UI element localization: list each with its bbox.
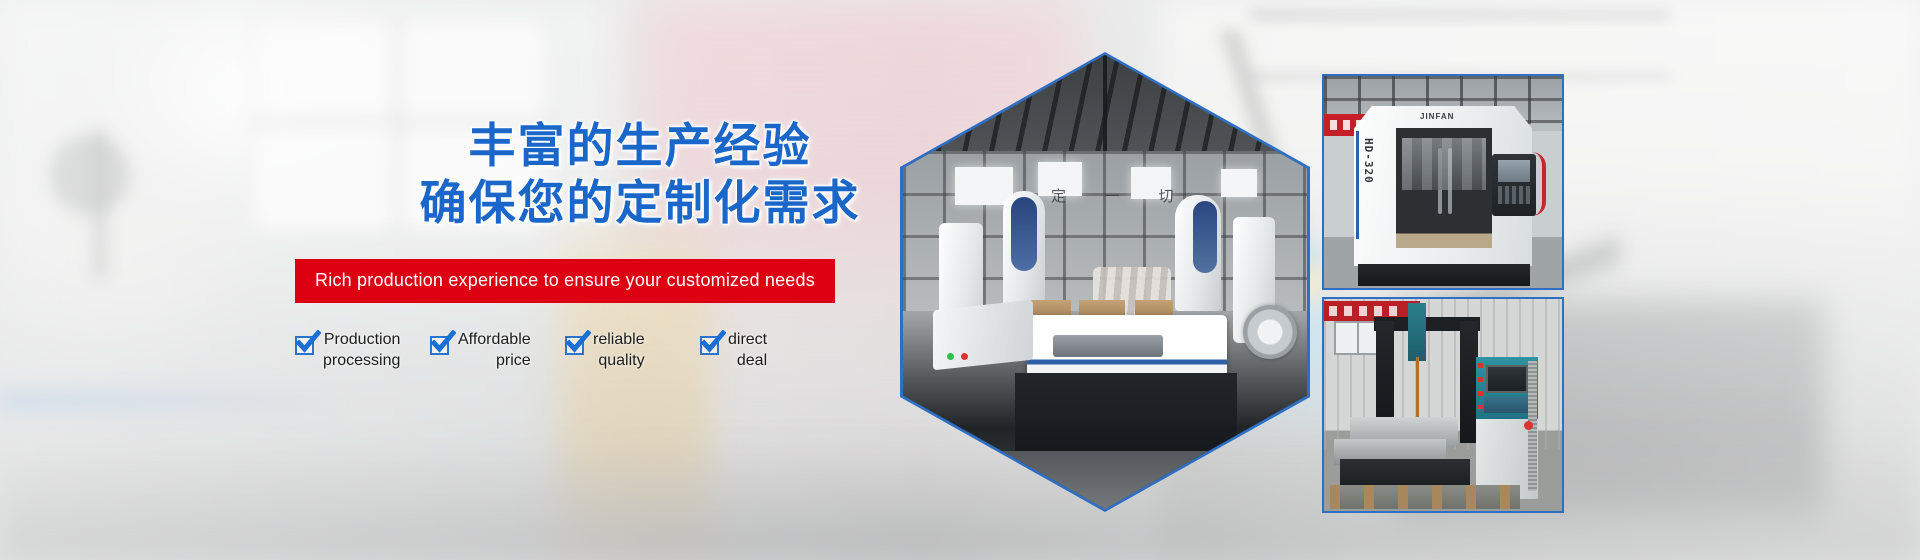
machine-panel-right: [1193, 201, 1217, 273]
checkbox-checked-icon: [430, 336, 449, 355]
feature-label: Production processing: [323, 329, 400, 371]
feature-item-production-processing[interactable]: Production processing: [295, 329, 430, 371]
gantry-column-left: [1376, 321, 1394, 431]
subtitle-ribbon-text: Rich production experience to ensure you…: [315, 270, 815, 291]
headline-line-2: 确保您的定制化需求: [360, 175, 920, 232]
factory-window: [955, 167, 1013, 205]
headline-line-1: 丰富的生产经验: [360, 118, 920, 175]
emergency-stop-icon: [1524, 421, 1533, 430]
banner-copy-block: 丰富的生产经验 确保您的定制化需求 Rich production experi…: [360, 118, 920, 371]
machine-control-screen: [1498, 160, 1530, 182]
machine-plinth: [1358, 264, 1530, 286]
feature-list: Production processing Affordable price r…: [295, 329, 835, 371]
feature-label: direct deal: [728, 329, 767, 371]
machine-base: [1015, 373, 1237, 459]
feature-item-reliable-quality[interactable]: reliable quality: [565, 329, 700, 371]
factory-interior-scene: 定 一 切: [903, 55, 1307, 509]
checkbox-checked-icon: [700, 336, 719, 355]
thumb-scene: [1324, 299, 1562, 511]
machine-model-label: HD-320: [1362, 138, 1375, 184]
hexagon-photo-frame: 定 一 切: [900, 52, 1310, 512]
machine-control-keypad: [1498, 186, 1530, 204]
checkbox-checked-icon: [565, 336, 584, 355]
feature-item-direct-deal[interactable]: direct deal: [700, 329, 835, 371]
subtitle-ribbon: Rich production experience to ensure you…: [295, 259, 835, 303]
machine-red-accent: [1532, 152, 1546, 216]
control-cabinet-buttons: [1478, 363, 1483, 409]
feature-item-affordable-price[interactable]: Affordable price: [430, 329, 565, 371]
factory-floor: [903, 451, 1307, 509]
machine-conveyor: [933, 300, 1033, 371]
machine-panel-mid: [1011, 197, 1037, 271]
machine-blue-stripe: [1356, 131, 1359, 239]
green-button-icon: [947, 353, 954, 360]
control-cabinet-screen: [1486, 365, 1528, 393]
checkbox-checked-icon: [295, 336, 314, 355]
machine-bed-slot: [1053, 335, 1163, 357]
feature-label: reliable quality: [593, 329, 645, 371]
cnc-double-column-machine-photo: 定 一 切: [903, 55, 1307, 509]
promotional-banner: 丰富的生产经验 确保您的定制化需求 Rich production experi…: [0, 0, 1920, 560]
thumb-scene: JINFAN HD-320: [1324, 76, 1562, 288]
control-cabinet-panel: [1484, 397, 1530, 413]
machine-reel: [1243, 305, 1297, 359]
red-button-icon: [961, 353, 968, 360]
wall-sign-text: 定 一 切: [1051, 185, 1191, 206]
edm-wire: [1416, 357, 1419, 425]
feature-label: Affordable price: [458, 329, 531, 371]
wooden-pallet: [1330, 485, 1520, 509]
factory-window: [1221, 169, 1257, 197]
machine-door-window: [1402, 138, 1486, 190]
wire-edm-machine-photo: [1322, 297, 1564, 513]
machine-brand-label: JINFAN: [1420, 112, 1454, 121]
edm-cutting-head: [1408, 303, 1426, 361]
hd-320-machining-center-photo: JINFAN HD-320: [1322, 74, 1564, 290]
